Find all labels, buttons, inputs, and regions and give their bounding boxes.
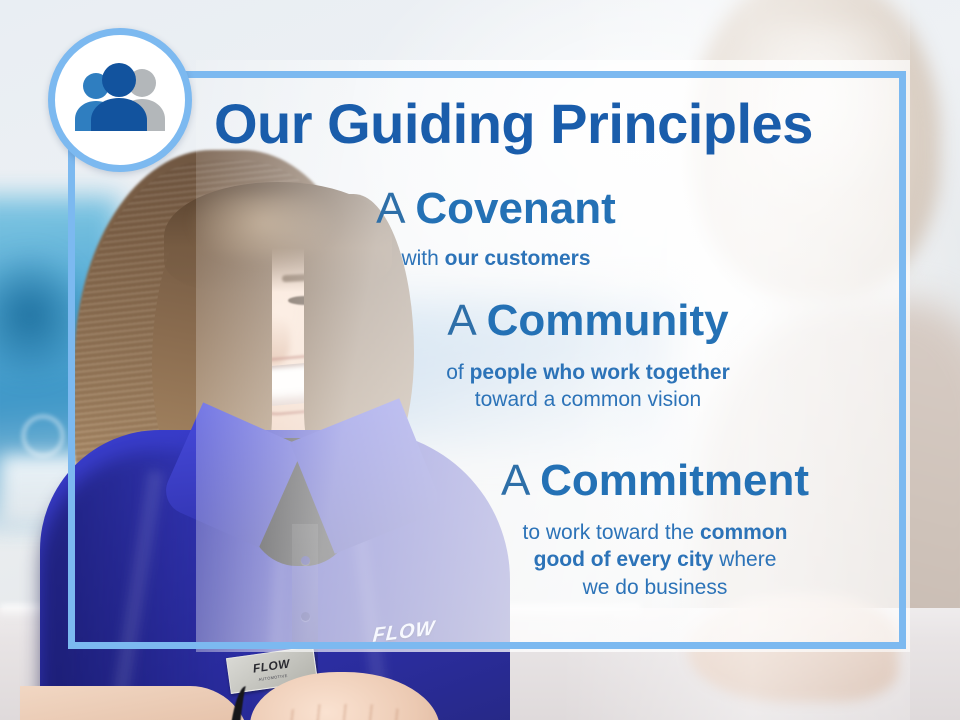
subtext-segment: to work toward the [523, 521, 700, 544]
principle-article: A [376, 184, 415, 233]
principle-subtext-line: good of every city where [430, 546, 880, 574]
principle-subtext-line: of people who work together [378, 359, 798, 387]
principle-commitment: A Commitment to work toward the common g… [430, 458, 880, 602]
principle-subtext-line: to work toward the common [430, 519, 880, 547]
principle-heading: A Covenant [296, 186, 696, 233]
name-badge-brand: FLOW [252, 658, 291, 675]
employee-shirt-button [301, 556, 310, 565]
principle-subtext: of people who work together toward a com… [378, 359, 798, 414]
principle-heading: A Community [378, 298, 798, 345]
people-badge [48, 28, 192, 172]
principle-heading: A Commitment [430, 458, 880, 505]
employee-arm-left [20, 686, 250, 720]
principle-subtext: to work toward the common good of every … [430, 519, 880, 602]
subtext-segment: with [401, 247, 444, 270]
principle-subtext-line: toward a common vision [378, 386, 798, 414]
guiding-principles-graphic: FLOW FLOW AUTOMOTIVE [0, 0, 960, 720]
principle-community: A Community of people who work together … [378, 298, 798, 414]
blurred-vw-logo-icon [22, 415, 64, 457]
principle-article: A [501, 456, 540, 505]
subtext-segment: where [713, 548, 776, 571]
principle-subtext-line: we do business [430, 574, 880, 602]
subtext-segment: of [446, 361, 469, 384]
people-group-icon [68, 63, 172, 137]
employee-shirt-button [301, 612, 310, 621]
page-title: Our Guiding Principles [214, 96, 874, 152]
customer-hand [688, 594, 898, 702]
subtext-segment-bold: people who work together [470, 361, 730, 384]
principle-keyword: Community [487, 296, 729, 345]
principle-keyword: Commitment [540, 456, 809, 505]
subtext-segment-bold: common [700, 521, 788, 544]
principle-covenant: A Covenant with our customers [296, 186, 696, 272]
principle-article: A [447, 296, 486, 345]
subtext-segment-bold: our customers [445, 247, 591, 270]
principle-keyword: Covenant [415, 184, 615, 233]
subtext-segment-bold: good of every city [534, 548, 714, 571]
principle-subtext-line: with our customers [296, 245, 696, 273]
